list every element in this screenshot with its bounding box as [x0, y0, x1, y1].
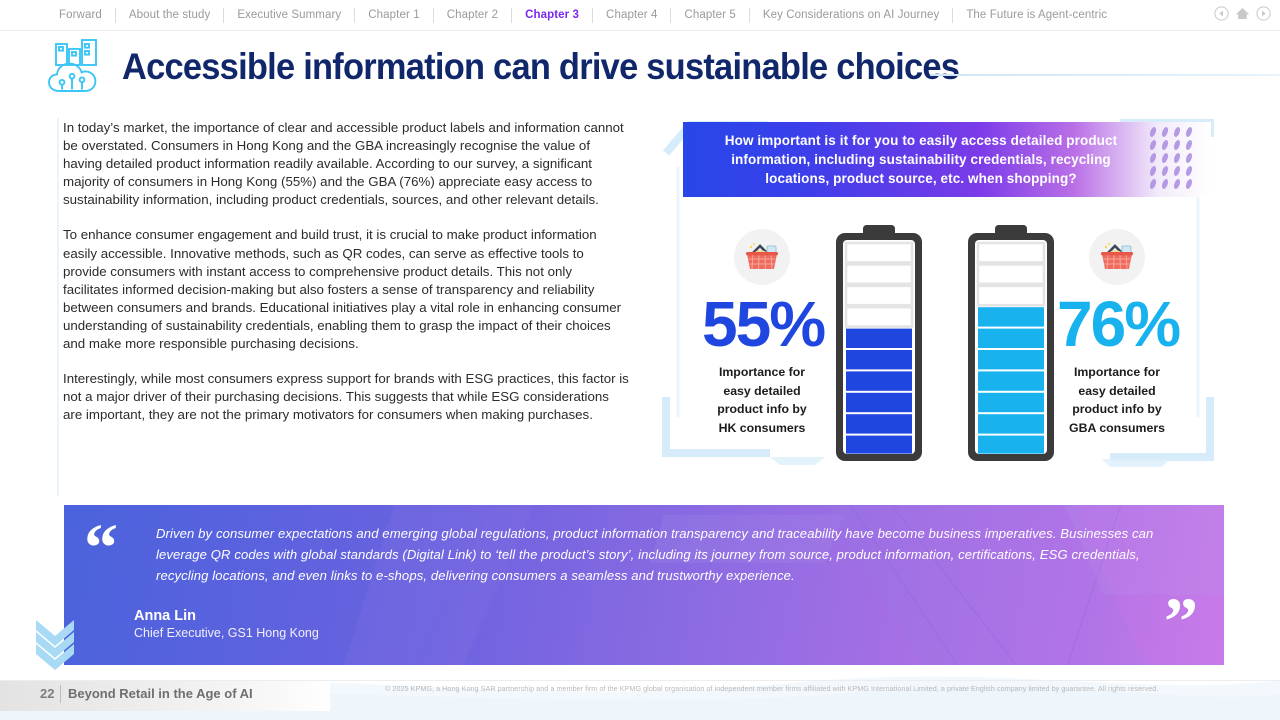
battery-gauge-hk [825, 225, 933, 461]
title-underline-rule [930, 74, 1280, 76]
nav-item-about-the-study[interactable]: About the study [116, 9, 223, 21]
stats-row: 55% Importance for easy detailed product… [650, 219, 1228, 464]
quote-text: Driven by consumer expectations and emer… [156, 523, 1184, 586]
stat-label-line: Importance for [702, 363, 822, 382]
stat-label-line: GBA consumers [1057, 419, 1177, 438]
nav-controls[interactable] [1214, 6, 1271, 21]
body-paragraph-1: In today’s market, the importance of cle… [63, 119, 631, 209]
page-title: Accessible information can drive sustain… [122, 46, 959, 88]
next-arrow-icon[interactable] [1256, 6, 1271, 21]
home-icon[interactable] [1234, 6, 1251, 21]
stat-percent-gba: 76% [1057, 293, 1177, 355]
battery-gauge-gba [957, 225, 1065, 461]
footer-document-title: Beyond Retail in the Age of AI [68, 686, 253, 701]
nav-item-forward[interactable]: Forward [46, 9, 115, 21]
nav-item-the-future-is-agent-centric[interactable]: The Future is Agent-centric [953, 9, 1120, 21]
page-header: Accessible information can drive sustain… [46, 38, 1022, 96]
statistics-panel: How important is it for you to easily ac… [650, 97, 1228, 497]
stat-block-gba: 76% Importance for easy detailed product… [1057, 229, 1177, 437]
shopping-basket-icon [1089, 229, 1145, 285]
quote-author-role: Chief Executive, GS1 Hong Kong [134, 626, 1184, 640]
nav-item-chapter-3[interactable]: Chapter 3 [512, 9, 592, 21]
body-paragraph-3: Interestingly, while most consumers expr… [63, 370, 631, 424]
page-number: 22 [40, 686, 54, 701]
smart-city-cloud-icon [46, 38, 112, 96]
quote-author-name: Anna Lin [134, 608, 1184, 624]
footer-copyright: © 2025 KPMG, a Hong Kong SAR partnership… [385, 684, 1158, 693]
stat-label-line: easy detailed [702, 382, 822, 401]
footer-divider [60, 685, 61, 703]
top-navigation-bar[interactable]: Forward About the study Executive Summar… [0, 0, 1280, 31]
nav-item-key-considerations-on-ai-journey[interactable]: Key Considerations on AI Journey [750, 9, 952, 21]
shopping-basket-icon [734, 229, 790, 285]
stat-label-hk: Importance for easy detailed product inf… [702, 363, 822, 437]
quote-card: “ ” Driven by consumer expectations and … [64, 505, 1224, 665]
body-copy: In today’s market, the importance of cle… [63, 119, 631, 424]
nav-item-chapter-2[interactable]: Chapter 2 [434, 9, 511, 21]
body-paragraph-2: To enhance consumer engagement and build… [63, 226, 631, 353]
stat-label-line: HK consumers [702, 419, 822, 438]
stat-label-gba: Importance for easy detailed product inf… [1057, 363, 1177, 437]
left-accent-bar [57, 118, 59, 496]
stat-label-line: easy detailed [1057, 382, 1177, 401]
page-footer: 22 Beyond Retail in the Age of AI © 2025… [0, 680, 1280, 720]
question-banner: How important is it for you to easily ac… [683, 122, 1211, 197]
prev-arrow-icon[interactable] [1214, 6, 1229, 21]
stat-label-line: product info by [1057, 400, 1177, 419]
stat-percent-hk: 55% [702, 293, 822, 355]
nav-item-chapter-4[interactable]: Chapter 4 [593, 9, 670, 21]
nav-item-chapter-1[interactable]: Chapter 1 [355, 9, 432, 21]
nav-item-executive-summary[interactable]: Executive Summary [224, 9, 354, 21]
question-text: How important is it for you to easily ac… [683, 122, 1211, 188]
nav-item-chapter-5[interactable]: Chapter 5 [671, 9, 748, 21]
stat-label-line: Importance for [1057, 363, 1177, 382]
stat-label-line: product info by [702, 400, 822, 419]
stat-block-hk: 55% Importance for easy detailed product… [702, 229, 822, 437]
